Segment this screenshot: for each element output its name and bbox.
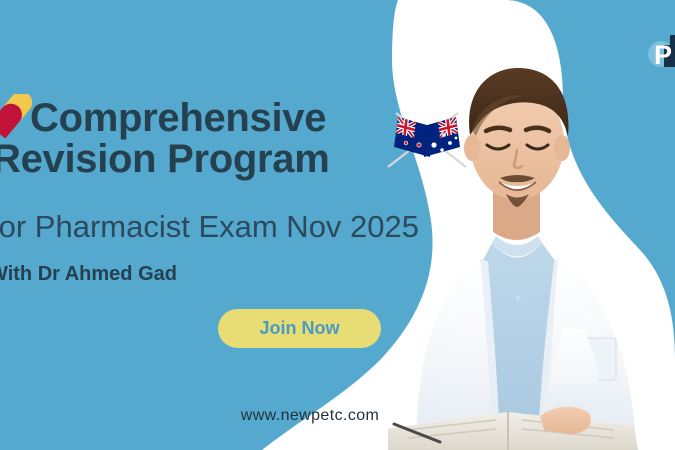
presenter-name: With Dr Ahmed Gad [0, 263, 177, 286]
subheadline: for Pharmacist Exam Nov 2025 [0, 209, 419, 245]
petc-logo-icon[interactable]: P [644, 33, 675, 73]
join-now-button[interactable]: Join Now [218, 309, 381, 348]
headline-line-2: Revision Program [0, 139, 462, 180]
svg-text:P: P [654, 40, 672, 70]
headline-line-1: Comprehensive [0, 98, 462, 139]
promo-banner: Comprehensive Revision Program for Pharm… [0, 0, 675, 450]
pharmacist-photo [388, 0, 675, 450]
headline-block: Comprehensive Revision Program [0, 98, 462, 180]
pharmacist-illustration [388, 0, 675, 450]
website-url: www.newpetc.com [0, 407, 620, 425]
